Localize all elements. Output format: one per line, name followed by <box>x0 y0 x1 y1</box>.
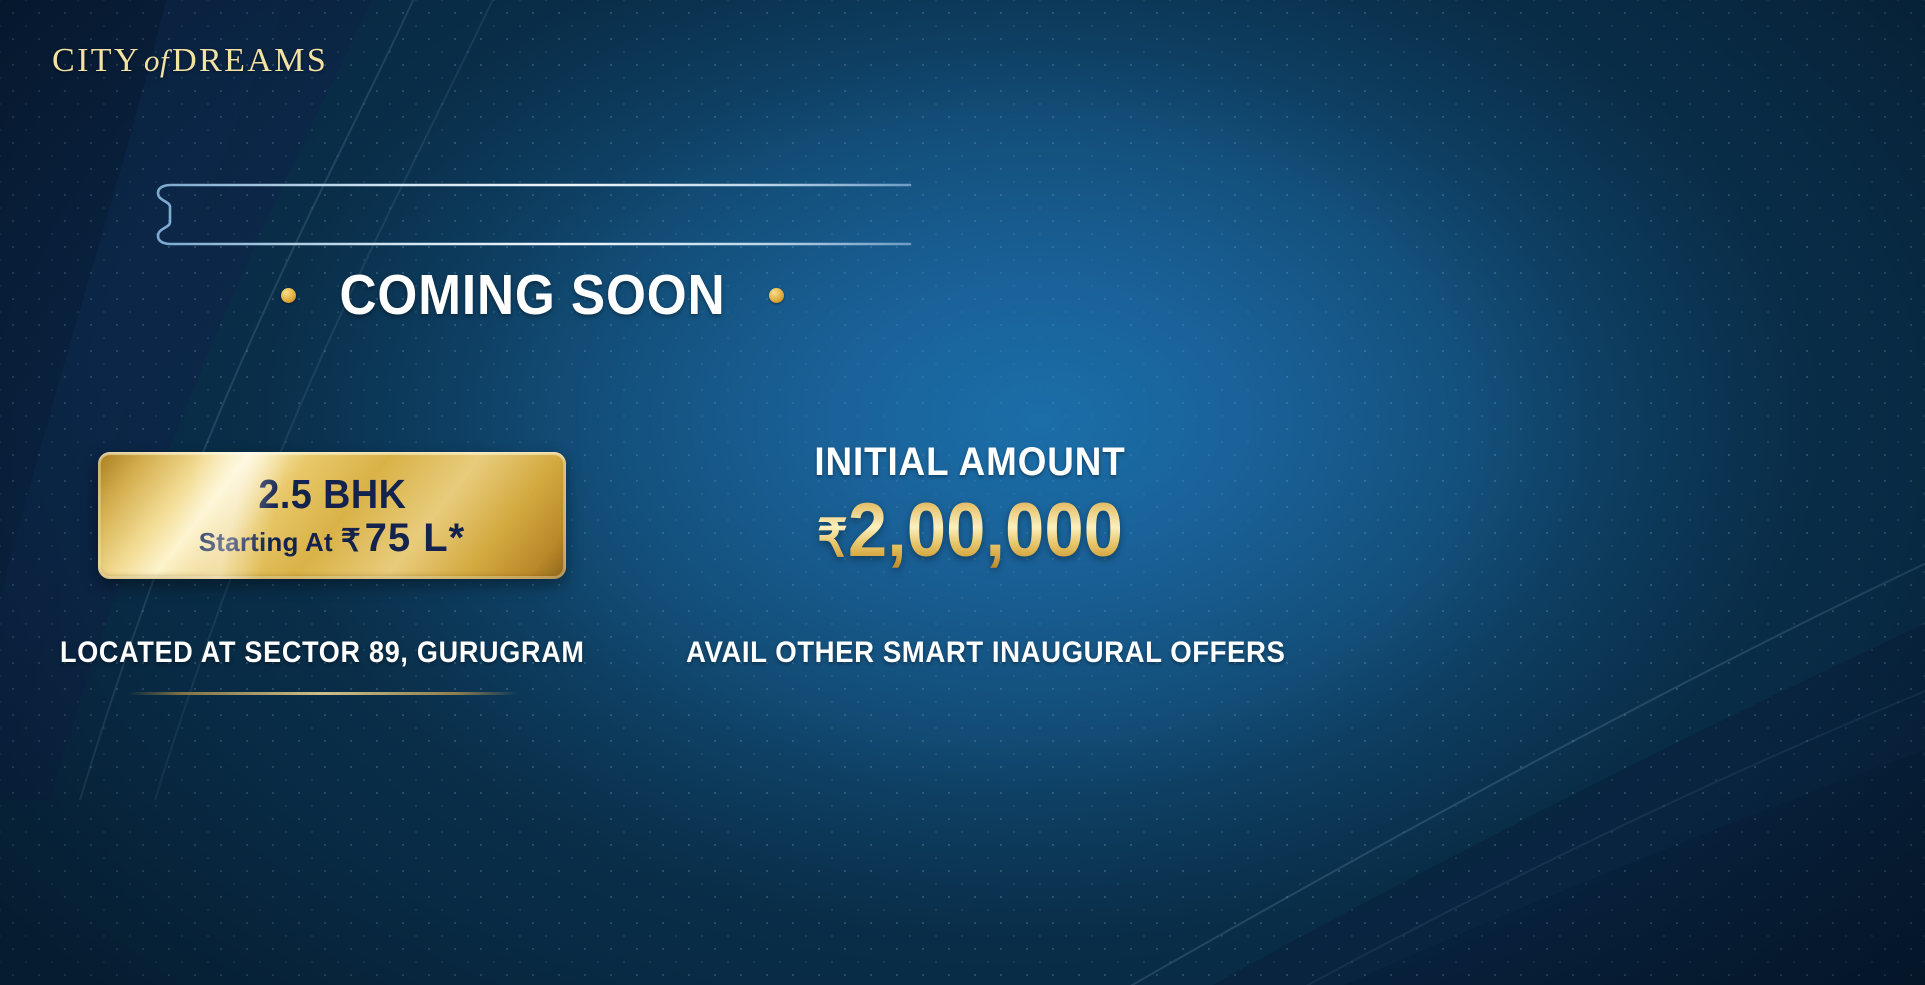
top-left-swoosh-decoration <box>0 0 640 800</box>
location-label: LOCATED AT SECTOR 89, GURUGRAM <box>60 636 585 670</box>
starting-price-row: Starting At ₹ 75 L* <box>199 518 465 558</box>
starting-at-label: Starting At <box>199 529 333 555</box>
rupee-symbol-icon: ₹ <box>333 525 365 556</box>
brand-name-part2: DREAMS <box>172 42 328 79</box>
initial-amount-block: INITIAL AMOUNT ₹2,00,000 <box>660 440 1280 574</box>
offers-note: AVAIL OTHER SMART INAUGURAL OFFERS <box>660 636 1280 670</box>
unit-type-label: 2.5 BHK <box>258 473 406 516</box>
initial-amount-number: 2,00,000 <box>848 488 1123 573</box>
bullet-dot-right-icon <box>769 288 784 303</box>
promo-banner-canvas: CITYofDREAMS LUXURY OF CONDO, INDEPENDEN… <box>0 0 1925 985</box>
initial-amount-value: ₹2,00,000 <box>682 487 1259 574</box>
price-badge[interactable]: 2.5 BHK Starting At ₹ 75 L* <box>98 452 566 579</box>
starting-price-value: 75 L* <box>365 518 466 558</box>
coming-soon-label: COMING SOON <box>339 262 725 328</box>
brand-name-part1: CITY <box>52 42 141 79</box>
tagline-text: LUXURY OF CONDO, INDEPENDENCE OF FLOOR <box>152 196 912 234</box>
bullet-dot-left-icon <box>281 288 296 303</box>
tagline-banner: LUXURY OF CONDO, INDEPENDENCE OF FLOOR <box>152 183 912 246</box>
initial-amount-heading: INITIAL AMOUNT <box>685 440 1255 485</box>
gold-divider <box>128 692 518 695</box>
brand-logo: CITYofDREAMS <box>52 42 328 80</box>
brand-name-connector: of <box>141 43 172 78</box>
coming-soon-row: COMING SOON <box>0 262 1065 328</box>
rupee-symbol-large-icon: ₹ <box>817 510 848 568</box>
